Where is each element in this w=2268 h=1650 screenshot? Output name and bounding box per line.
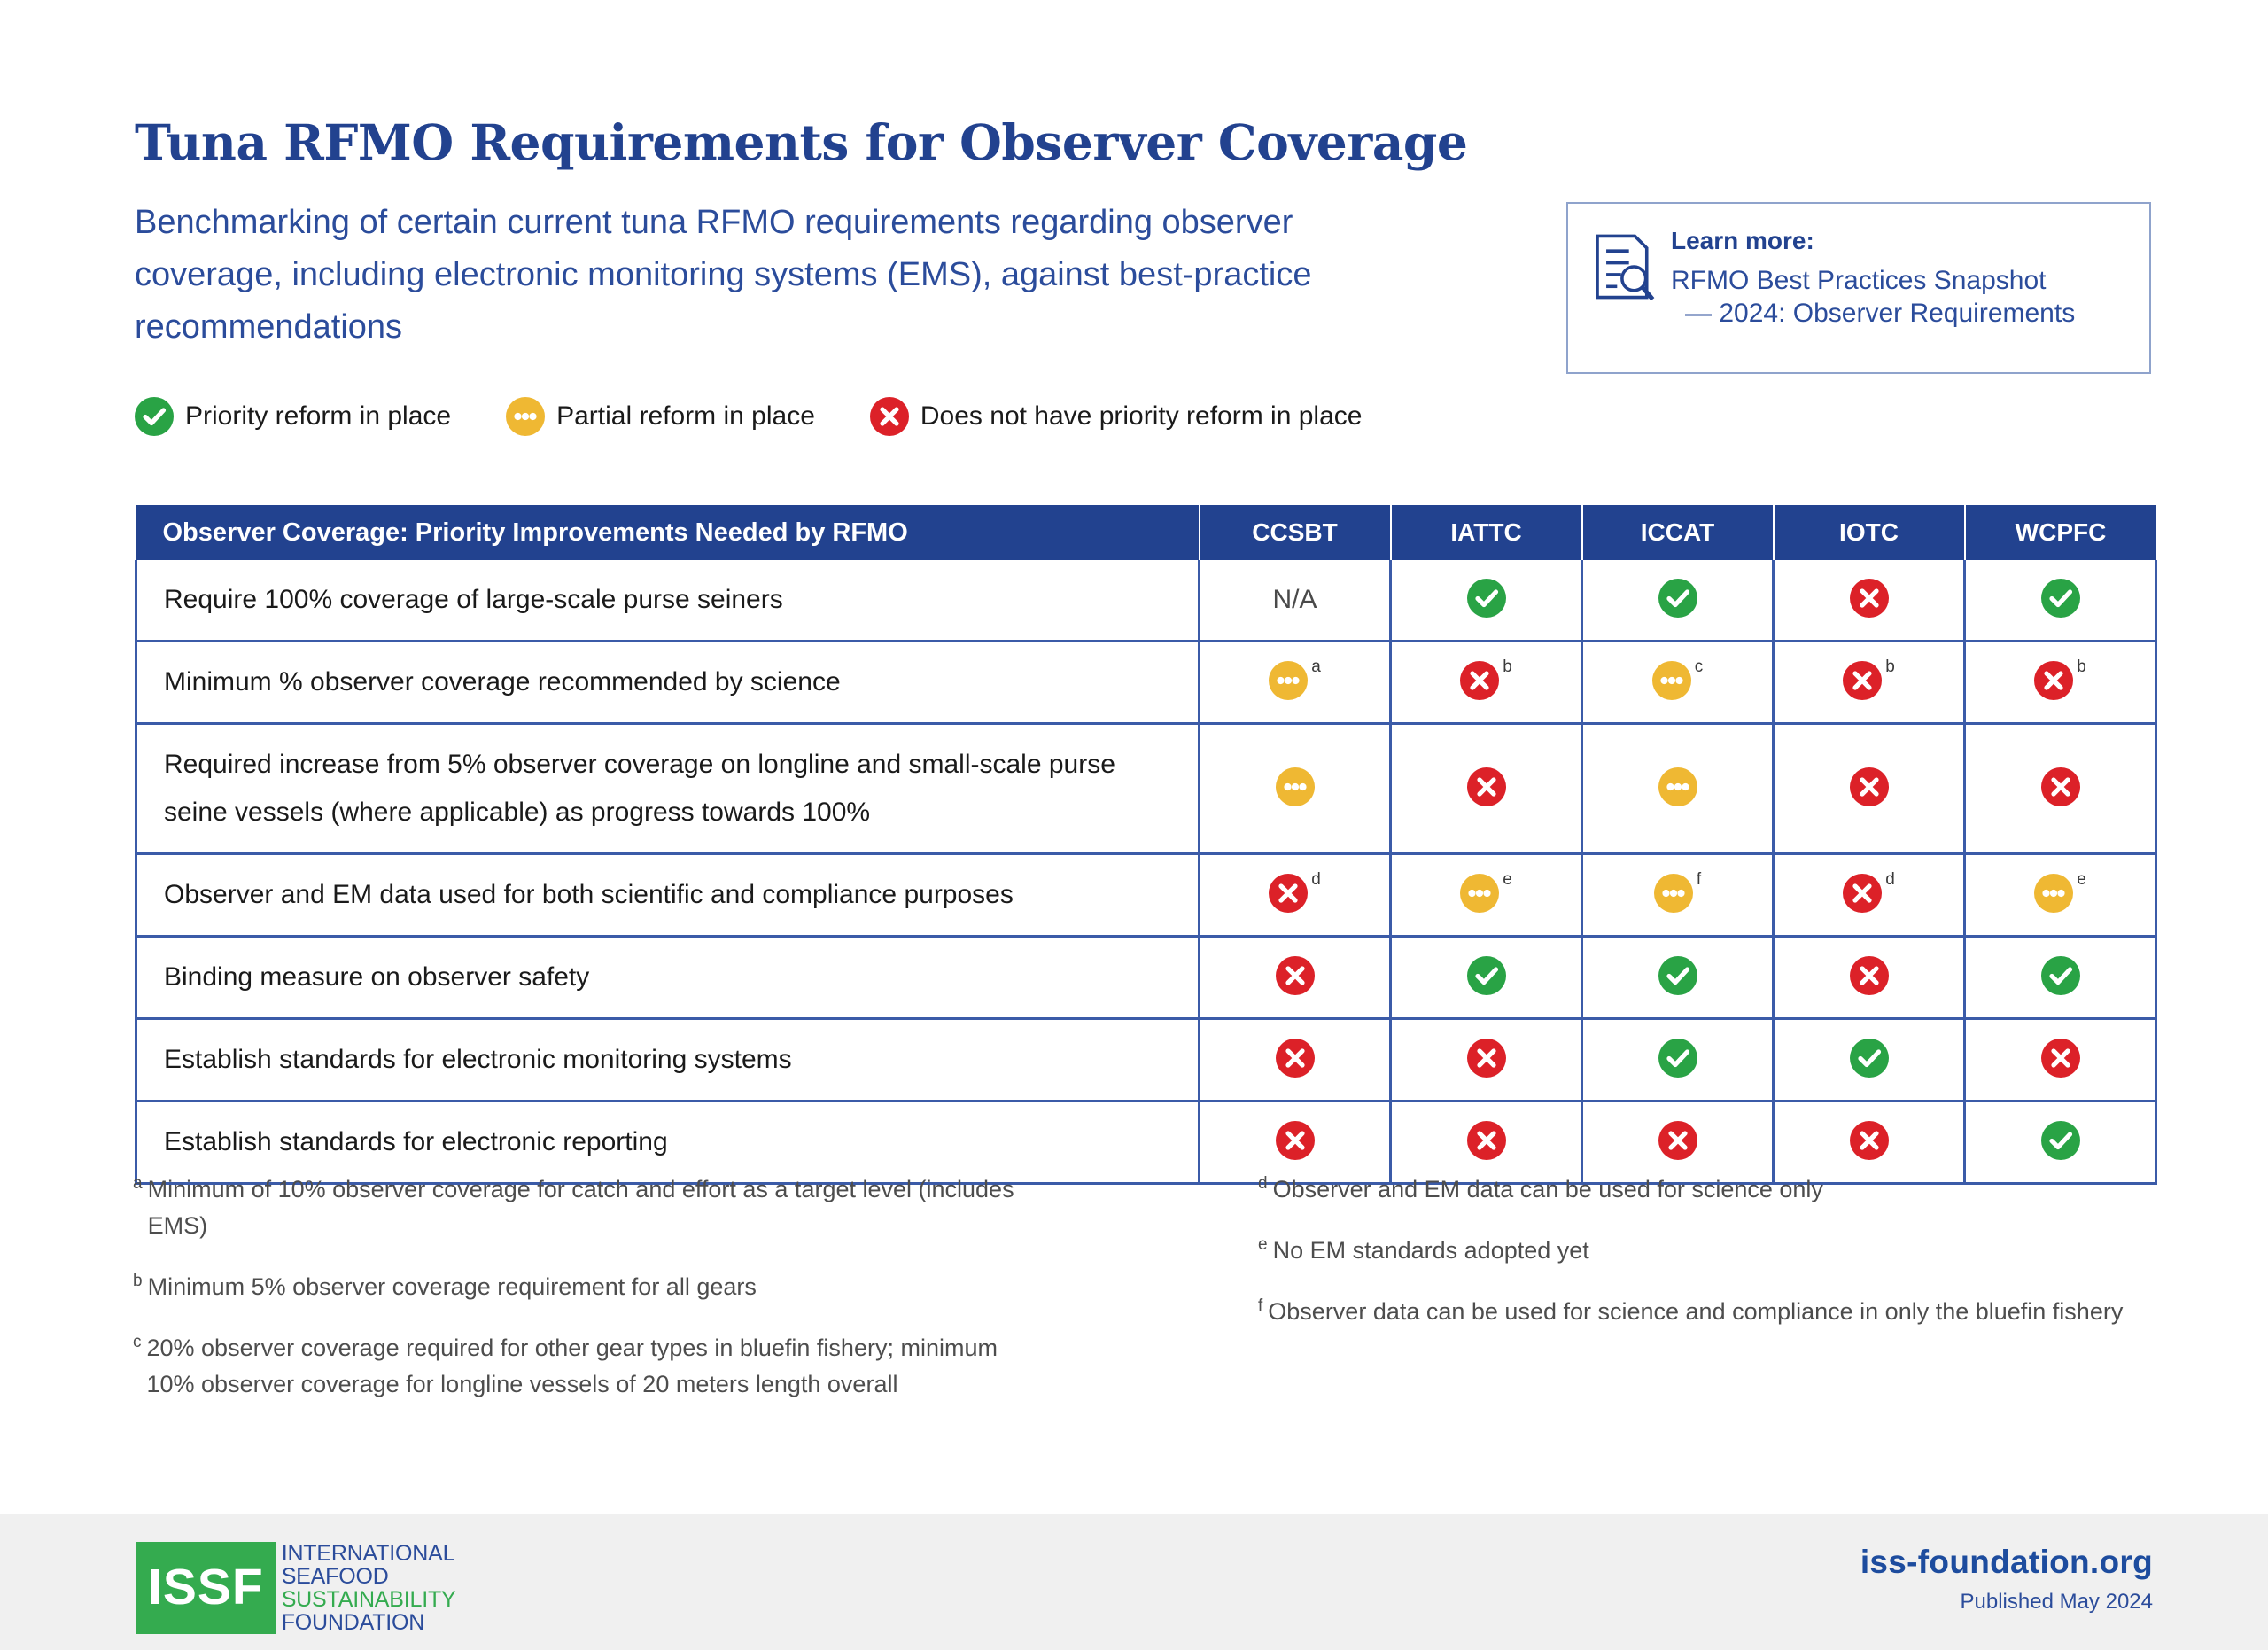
- issf-logo: ISSF INTERNATIONAL SEAFOOD SUSTAINABILIT…: [136, 1542, 456, 1634]
- status-cell-iccat: [1582, 937, 1774, 1019]
- issf-logo-wordmark: INTERNATIONAL SEAFOOD SUSTAINABILITY FOU…: [282, 1542, 456, 1634]
- x-circle-icon: [1850, 767, 1889, 806]
- check-circle-icon: [135, 397, 174, 436]
- dots-circle-icon: [1460, 874, 1499, 913]
- column-header-wcpfc: WCPFC: [1965, 505, 2156, 560]
- footnote-mark: b: [133, 1269, 143, 1305]
- status-badge: b: [1460, 661, 1512, 700]
- legend-label-no-reform: Does not have priority reform in place: [920, 401, 1363, 432]
- status-cell-ccsbt: [1200, 1019, 1391, 1101]
- status-cell-ccsbt: a: [1200, 642, 1391, 724]
- status-badge: [2041, 767, 2080, 806]
- x-circle-icon: [1269, 874, 1308, 913]
- legend-label-priority-reform: Priority reform in place: [185, 401, 451, 432]
- x-circle-icon: [870, 397, 909, 436]
- dots-circle-icon: [1652, 661, 1691, 700]
- x-circle-icon: [2041, 767, 2080, 806]
- table-row: Require 100% coverage of large-scale pur…: [136, 560, 2156, 642]
- status-cell-wcpfc: b: [1965, 642, 2156, 724]
- status-badge: [1467, 579, 1506, 618]
- footnote-marker: f: [1697, 871, 1701, 888]
- status-badge: [1276, 767, 1315, 806]
- status-cell-iccat: [1582, 1019, 1774, 1101]
- x-circle-icon: [1467, 1121, 1506, 1160]
- learn-more-box[interactable]: Learn more: RFMO Best Practices Snapshot…: [1566, 202, 2151, 374]
- status-cell-iotc: d: [1774, 854, 1965, 937]
- status-badge: [2041, 1121, 2080, 1160]
- column-header-requirement: Observer Coverage: Priority Improvements…: [136, 505, 1200, 560]
- status-badge: [2041, 1039, 2080, 1078]
- observer-coverage-table: Observer Coverage: Priority Improvements…: [135, 505, 2157, 1185]
- learn-more-link-line2: — 2024: Observer Requirements: [1671, 297, 2130, 330]
- check-circle-icon: [2041, 1121, 2080, 1160]
- status-cell-wcpfc: [1965, 937, 2156, 1019]
- status-badge: a: [1269, 661, 1321, 700]
- table-row: Establish standards for electronic monit…: [136, 1019, 2156, 1101]
- status-cell-ccsbt: N/A: [1200, 560, 1391, 642]
- status-cell-iotc: [1774, 724, 1965, 854]
- status-badge: [1850, 1121, 1889, 1160]
- status-cell-iccat: [1582, 560, 1774, 642]
- logo-line-foundation: FOUNDATION: [282, 1611, 456, 1634]
- status-badge: e: [2034, 874, 2086, 913]
- row-label: Require 100% coverage of large-scale pur…: [136, 560, 1200, 642]
- status-badge: [2041, 956, 2080, 995]
- status-badge: [1850, 767, 1889, 806]
- learn-more-link[interactable]: RFMO Best Practices Snapshot — 2024: Obs…: [1671, 264, 2130, 330]
- na-text: N/A: [1272, 585, 1317, 615]
- footnote-text: Minimum of 10% observer coverage for cat…: [148, 1171, 1043, 1244]
- x-circle-icon: [2034, 661, 2073, 700]
- infographic-page: Tuna RFMO Requirements for Observer Cove…: [0, 0, 2268, 1650]
- footnote-marker: e: [2077, 871, 2086, 888]
- column-header-ccsbt: CCSBT: [1200, 505, 1391, 560]
- footnote: aMinimum of 10% observer coverage for ca…: [133, 1171, 1143, 1244]
- column-header-iattc: IATTC: [1391, 505, 1582, 560]
- dots-circle-icon: [1276, 767, 1315, 806]
- dots-circle-icon: [2034, 874, 2073, 913]
- footnote-mark: e: [1258, 1233, 1268, 1269]
- table-header-row: Observer Coverage: Priority Improvements…: [136, 505, 2156, 560]
- check-circle-icon: [1658, 579, 1697, 618]
- footnote-mark: f: [1258, 1294, 1262, 1330]
- status-badge: e: [1460, 874, 1512, 913]
- status-cell-iotc: b: [1774, 642, 1965, 724]
- x-circle-icon: [1460, 661, 1499, 700]
- x-circle-icon: [1843, 874, 1882, 913]
- table-body: Require 100% coverage of large-scale pur…: [136, 560, 2156, 1184]
- footnote-text: 20% observer coverage required for other…: [147, 1330, 1042, 1403]
- status-cell-iotc: [1774, 1019, 1965, 1101]
- status-badge: [1658, 956, 1697, 995]
- status-badge: f: [1654, 874, 1701, 913]
- document-magnifier-icon: [1591, 227, 1658, 306]
- status-cell-iattc: [1391, 724, 1582, 854]
- row-label: Establish standards for electronic monit…: [136, 1019, 1200, 1101]
- logo-line-sustainability: SUSTAINABILITY: [282, 1588, 456, 1611]
- status-badge: [1850, 1039, 1889, 1078]
- logo-line-international: INTERNATIONAL: [282, 1542, 456, 1565]
- row-label: Minimum % observer coverage recommended …: [136, 642, 1200, 724]
- dots-circle-icon: [506, 397, 545, 436]
- status-badge: [1276, 1121, 1315, 1160]
- footnote-mark: a: [133, 1171, 143, 1244]
- status-cell-iccat: [1582, 724, 1774, 854]
- footnote-marker: c: [1695, 658, 1704, 675]
- issf-logo-mark: ISSF: [136, 1542, 276, 1634]
- status-badge: [1850, 956, 1889, 995]
- status-badge: [1467, 767, 1506, 806]
- column-header-iccat: ICCAT: [1582, 505, 1774, 560]
- x-circle-icon: [2041, 1039, 2080, 1078]
- dots-circle-icon: [1654, 874, 1693, 913]
- footnotes-right-column: dObserver and EM data can be used for sc…: [1143, 1171, 2153, 1428]
- footnote-mark: c: [133, 1330, 142, 1403]
- footnote-text: Observer data can be used for science an…: [1268, 1294, 2153, 1330]
- row-label: Observer and EM data used for both scien…: [136, 854, 1200, 937]
- status-badge: [1850, 579, 1889, 618]
- page-title: Tuna RFMO Requirements for Observer Cove…: [135, 113, 1467, 171]
- status-cell-iccat: c: [1582, 642, 1774, 724]
- check-circle-icon: [2041, 956, 2080, 995]
- footnote: fObserver data can be used for science a…: [1258, 1294, 2153, 1330]
- footnote-marker: b: [2077, 658, 2086, 675]
- status-badge: [1658, 767, 1697, 806]
- footnote-marker: a: [1311, 658, 1321, 675]
- check-circle-icon: [1467, 956, 1506, 995]
- status-badge: [2041, 579, 2080, 618]
- table-row: Binding measure on observer safety: [136, 937, 2156, 1019]
- legend-label-partial-reform: Partial reform in place: [556, 401, 815, 432]
- status-cell-iattc: [1391, 560, 1582, 642]
- check-circle-icon: [1850, 1039, 1889, 1078]
- learn-more-text: Learn more: RFMO Best Practices Snapshot…: [1671, 227, 2130, 330]
- x-circle-icon: [1467, 1039, 1506, 1078]
- legend-item-partial-reform: Partial reform in place: [506, 397, 815, 436]
- x-circle-icon: [1658, 1121, 1697, 1160]
- x-circle-icon: [1850, 1121, 1889, 1160]
- table-row: Minimum % observer coverage recommended …: [136, 642, 2156, 724]
- footnote: bMinimum 5% observer coverage requiremen…: [133, 1269, 1143, 1305]
- status-cell-wcpfc: [1965, 560, 2156, 642]
- footnote-mark: d: [1258, 1171, 1268, 1208]
- legend-item-no-reform: Does not have priority reform in place: [870, 397, 1363, 436]
- table-head: Observer Coverage: Priority Improvements…: [136, 505, 2156, 560]
- dots-circle-icon: [1658, 767, 1697, 806]
- legend-item-priority-reform: Priority reform in place: [135, 397, 451, 436]
- check-circle-icon: [1658, 1039, 1697, 1078]
- x-circle-icon: [1850, 956, 1889, 995]
- check-circle-icon: [2041, 579, 2080, 618]
- logo-line-seafood: SEAFOOD: [282, 1565, 456, 1588]
- row-label: Required increase from 5% observer cover…: [136, 724, 1200, 854]
- status-badge: [1467, 1039, 1506, 1078]
- status-cell-wcpfc: e: [1965, 854, 2156, 937]
- x-circle-icon: [1276, 1039, 1315, 1078]
- footnote-text: Observer and EM data can be used for sci…: [1273, 1171, 2153, 1208]
- status-badge: [1467, 956, 1506, 995]
- footnotes: aMinimum of 10% observer coverage for ca…: [133, 1171, 2153, 1428]
- status-cell-iattc: [1391, 1019, 1582, 1101]
- column-header-iotc: IOTC: [1774, 505, 1965, 560]
- status-cell-wcpfc: [1965, 1019, 2156, 1101]
- legend: Priority reform in place Partial reform …: [135, 397, 1362, 436]
- footnote: c20% observer coverage required for othe…: [133, 1330, 1143, 1403]
- status-badge: d: [1843, 874, 1895, 913]
- status-badge: [1276, 956, 1315, 995]
- page-subtitle: Benchmarking of certain current tuna RFM…: [135, 197, 1313, 354]
- status-cell-iattc: b: [1391, 642, 1582, 724]
- check-circle-icon: [1658, 956, 1697, 995]
- status-badge: [1658, 579, 1697, 618]
- footnote-marker: e: [1503, 871, 1512, 888]
- status-cell-wcpfc: [1965, 724, 2156, 854]
- status-cell-iotc: [1774, 560, 1965, 642]
- status-cell-iattc: [1391, 937, 1582, 1019]
- table-row: Observer and EM data used for both scien…: [136, 854, 2156, 937]
- learn-more-link-line1: RFMO Best Practices Snapshot: [1671, 266, 2047, 295]
- footnote-marker: d: [1311, 871, 1321, 888]
- status-badge: [1658, 1039, 1697, 1078]
- status-badge: [1467, 1121, 1506, 1160]
- status-cell-ccsbt: d: [1200, 854, 1391, 937]
- footnote-marker: b: [1885, 658, 1895, 675]
- status-cell-ccsbt: [1200, 937, 1391, 1019]
- footnote-marker: b: [1503, 658, 1512, 675]
- website-link[interactable]: iss-foundation.org: [1860, 1544, 2153, 1581]
- x-circle-icon: [1276, 956, 1315, 995]
- status-badge: b: [2034, 661, 2086, 700]
- footer-right: iss-foundation.org Published May 2024: [1860, 1544, 2153, 1615]
- learn-more-label: Learn more:: [1671, 227, 2130, 255]
- footnote-marker: d: [1885, 871, 1895, 888]
- x-circle-icon: [1843, 661, 1882, 700]
- footnotes-left-column: aMinimum of 10% observer coverage for ca…: [133, 1171, 1143, 1428]
- status-badge: d: [1269, 874, 1321, 913]
- footnote: dObserver and EM data can be used for sc…: [1258, 1171, 2153, 1208]
- status-cell-iotc: [1774, 937, 1965, 1019]
- status-badge: b: [1843, 661, 1895, 700]
- table-row: Required increase from 5% observer cover…: [136, 724, 2156, 854]
- status-cell-iccat: f: [1582, 854, 1774, 937]
- x-circle-icon: [1850, 579, 1889, 618]
- dots-circle-icon: [1269, 661, 1308, 700]
- row-label: Binding measure on observer safety: [136, 937, 1200, 1019]
- footnote-text: No EM standards adopted yet: [1273, 1233, 2153, 1269]
- status-cell-ccsbt: [1200, 724, 1391, 854]
- x-circle-icon: [1276, 1121, 1315, 1160]
- status-badge: [1276, 1039, 1315, 1078]
- x-circle-icon: [1467, 767, 1506, 806]
- published-date: Published May 2024: [1860, 1590, 2153, 1615]
- status-cell-iattc: e: [1391, 854, 1582, 937]
- status-badge: [1658, 1121, 1697, 1160]
- footnote: eNo EM standards adopted yet: [1258, 1233, 2153, 1269]
- footnote-text: Minimum 5% observer coverage requirement…: [148, 1269, 1043, 1305]
- status-badge: c: [1652, 661, 1704, 700]
- check-circle-icon: [1467, 579, 1506, 618]
- status-badge: N/A: [1272, 585, 1317, 615]
